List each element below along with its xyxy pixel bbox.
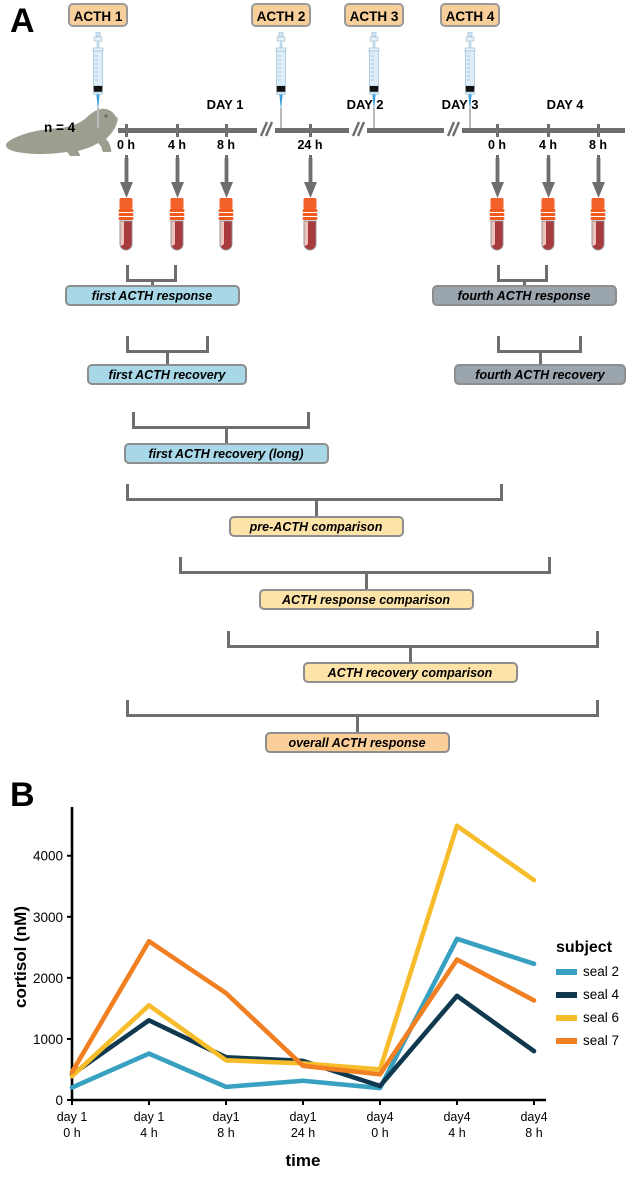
bracket-drop-3 <box>166 350 169 364</box>
bracket-arm-right-6 <box>500 484 503 498</box>
axis-break-glyph-3 <box>445 119 461 141</box>
x-tick-label-2-hour: 8 h <box>217 1126 234 1140</box>
x-tick-label-3-hour: 24 h <box>291 1126 315 1140</box>
cortisol-line-chart: 01000200030004000day 10 hday 14 hday18 h… <box>0 795 634 1201</box>
bracket-drop-4 <box>539 350 542 364</box>
subject-count-label: n = 4 <box>44 120 75 135</box>
blood-tube-icon-3 <box>216 198 236 260</box>
x-tick-label-1-hour: 4 h <box>140 1126 157 1140</box>
syringe-icon-2 <box>273 32 289 115</box>
blood-tube-icon-6 <box>538 198 558 260</box>
timepoint-label-5: 0 h <box>473 138 521 152</box>
x-axis-title: time <box>286 1151 321 1170</box>
sample-arrow-1 <box>120 158 133 203</box>
bracket-arm-left-2 <box>497 265 500 279</box>
x-tick-label-1-day: day 1 <box>134 1110 165 1124</box>
series-line-seal-7 <box>72 941 534 1074</box>
y-tick-label-2: 2000 <box>33 971 63 986</box>
y-tick-label-4: 4000 <box>33 849 63 864</box>
sample-arrow-4 <box>304 158 317 203</box>
y-tick-label-1: 1000 <box>33 1032 63 1047</box>
bracket-arm-right-9 <box>596 700 599 714</box>
comparison-label-3[interactable]: first ACTH recovery <box>87 364 247 385</box>
blood-tube-icon-1 <box>116 198 136 260</box>
day-label-2: DAY 2 <box>333 97 397 112</box>
bracket-arm-left-9 <box>126 700 129 714</box>
day-label-1: DAY 1 <box>193 97 257 112</box>
acth-box-2[interactable]: ACTH 2 <box>251 3 311 27</box>
bracket-arm-right-5 <box>307 412 310 426</box>
comparison-label-7[interactable]: ACTH response comparison <box>259 589 474 610</box>
bracket-bar-8 <box>227 645 599 648</box>
needle-guide-line-1 <box>97 108 98 128</box>
legend-title: subject <box>556 939 613 956</box>
x-tick-label-3-day: day1 <box>289 1110 316 1124</box>
sample-arrow-2 <box>171 158 184 203</box>
sample-arrow-6 <box>542 158 555 203</box>
x-tick-label-2-day: day1 <box>212 1110 239 1124</box>
bracket-bar-5 <box>132 426 310 429</box>
timeline-tick-7 <box>597 124 600 137</box>
timepoint-label-2: 4 h <box>153 138 201 152</box>
x-tick-label-0-hour: 0 h <box>63 1126 80 1140</box>
x-tick-label-6-hour: 8 h <box>525 1126 542 1140</box>
blood-tube-icon-2 <box>167 198 187 260</box>
needle-guide-line-2 <box>280 108 281 128</box>
bracket-drop-8 <box>409 645 412 662</box>
x-tick-label-5-hour: 4 h <box>448 1126 465 1140</box>
bracket-arm-right-7 <box>548 557 551 571</box>
bracket-arm-right-3 <box>206 336 209 350</box>
comparison-label-6[interactable]: pre-ACTH comparison <box>229 516 404 537</box>
timeline-tick-4 <box>309 124 312 137</box>
timepoint-label-4: 24 h <box>286 138 334 152</box>
bracket-arm-left-4 <box>497 336 500 350</box>
sample-arrow-7 <box>592 158 605 203</box>
bracket-arm-left-3 <box>126 336 129 350</box>
x-tick-label-5-day: day4 <box>443 1110 470 1124</box>
bracket-arm-right-2 <box>545 265 548 279</box>
comparison-label-4[interactable]: fourth ACTH recovery <box>454 364 626 385</box>
bracket-drop-5 <box>225 426 228 443</box>
panel-a-letter: A <box>10 4 35 38</box>
bracket-arm-left-1 <box>126 265 129 279</box>
timepoint-label-7: 8 h <box>574 138 622 152</box>
timepoint-label-1: 0 h <box>102 138 150 152</box>
comparison-label-5[interactable]: first ACTH recovery (long) <box>124 443 329 464</box>
comparison-label-1[interactable]: first ACTH response <box>65 285 240 306</box>
timeline-tick-5 <box>496 124 499 137</box>
sample-arrow-5 <box>491 158 504 203</box>
x-tick-label-0-day: day 1 <box>57 1110 88 1124</box>
blood-tube-icon-5 <box>487 198 507 260</box>
blood-tube-icon-7 <box>588 198 608 260</box>
comparison-label-2[interactable]: fourth ACTH response <box>432 285 617 306</box>
bracket-arm-right-1 <box>174 265 177 279</box>
acth-box-4[interactable]: ACTH 4 <box>440 3 500 27</box>
bracket-arm-left-8 <box>227 631 230 645</box>
bracket-arm-left-5 <box>132 412 135 426</box>
acth-box-1[interactable]: ACTH 1 <box>68 3 128 27</box>
comparison-label-9[interactable]: overall ACTH response <box>265 732 450 753</box>
bracket-bar-9 <box>126 714 599 717</box>
timeline-tick-1 <box>125 124 128 137</box>
chart-svg: 01000200030004000day 10 hday 14 hday18 h… <box>0 795 634 1201</box>
legend-label-seal-2: seal 2 <box>583 964 619 979</box>
bracket-drop-6 <box>315 498 318 516</box>
axis-break-glyph-2 <box>350 119 366 141</box>
blood-tube-icon-4 <box>300 198 320 260</box>
timeline-tick-6 <box>547 124 550 137</box>
axis-break-glyph-1 <box>258 119 274 141</box>
bracket-arm-right-8 <box>596 631 599 645</box>
y-tick-label-3: 3000 <box>33 910 63 925</box>
legend-label-seal-7: seal 7 <box>583 1033 619 1048</box>
bracket-arm-right-4 <box>579 336 582 350</box>
bracket-drop-7 <box>365 571 368 589</box>
sample-arrow-3 <box>220 158 233 203</box>
syringe-icon-1 <box>90 32 106 115</box>
y-tick-label-0: 0 <box>55 1093 63 1108</box>
comparison-label-8[interactable]: ACTH recovery comparison <box>303 662 518 683</box>
bracket-drop-9 <box>356 714 359 732</box>
timeline-tick-2 <box>176 124 179 137</box>
legend-label-seal-6: seal 6 <box>583 1010 619 1025</box>
timepoint-label-6: 4 h <box>524 138 572 152</box>
timepoint-label-3: 8 h <box>202 138 250 152</box>
x-tick-label-6-day: day4 <box>520 1110 547 1124</box>
y-axis-title: cortisol (nM) <box>11 906 30 1008</box>
acth-box-3[interactable]: ACTH 3 <box>344 3 404 27</box>
bracket-arm-left-7 <box>179 557 182 571</box>
day-label-3: DAY 3 <box>428 97 492 112</box>
legend-label-seal-4: seal 4 <box>583 987 620 1002</box>
bracket-arm-left-6 <box>126 484 129 498</box>
day-label-4: DAY 4 <box>533 97 597 112</box>
timeline-tick-3 <box>225 124 228 137</box>
x-tick-label-4-hour: 0 h <box>371 1126 388 1140</box>
x-tick-label-4-day: day4 <box>366 1110 393 1124</box>
